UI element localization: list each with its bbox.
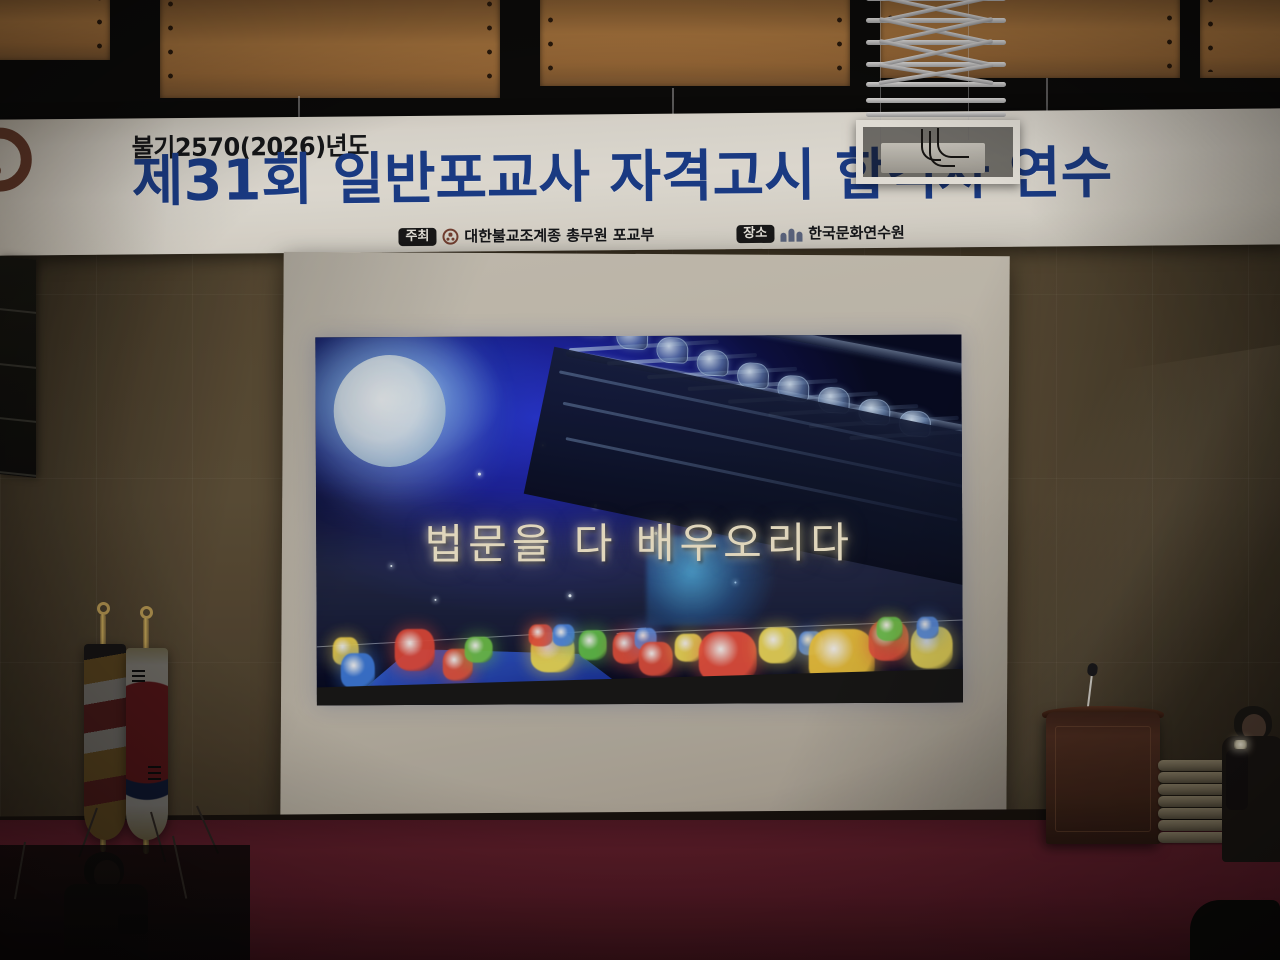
venue-badge: 장소 [736, 225, 774, 243]
lotus-lantern [917, 617, 939, 639]
credits-spacer [664, 234, 726, 235]
venue-name: 한국문화연수원 [808, 225, 905, 241]
lotus-lantern [579, 630, 607, 660]
lotus-lantern [529, 624, 553, 646]
trigram-mark [132, 680, 145, 682]
lotus-lantern [341, 653, 375, 689]
line-array-speaker [0, 256, 36, 478]
lotus-lantern [465, 637, 493, 663]
host-group: 주최 대한불교조계종 총무원 포교부 [398, 226, 654, 246]
venue-group: 장소 한국문화연수원 [736, 224, 905, 243]
lotus-lantern [395, 629, 435, 671]
decorative-roof-tile [696, 349, 729, 377]
south-korea-taegeukgi [126, 648, 168, 840]
wooden-ceiling-panel [0, 0, 110, 60]
trigram-mark [132, 675, 145, 677]
buddhist-flag [84, 644, 126, 840]
star-speck [478, 473, 481, 476]
wooden-ceiling-panel [160, 0, 500, 98]
conference-hall-photo: 불기2570(2026)년도 제31회 일반포교사 자격고시 합격자 연수 주최… [0, 0, 1280, 960]
banner-credits: 주최 대한불교조계종 총무원 포교부 장소 한국문화연수원 [398, 224, 904, 246]
phone-screen [1234, 740, 1247, 749]
trigram-mark [148, 772, 161, 774]
lotus-lantern [759, 627, 797, 663]
projection-screen: 법문을 다 배우오리다 [280, 252, 1010, 832]
projector-cable [937, 128, 969, 158]
jogye-small-emblem-icon [442, 229, 458, 245]
ceiling-hanger-rod [1046, 78, 1048, 114]
decorative-roof-tile [575, 335, 608, 337]
scissor-lift-mount [872, 0, 1000, 126]
arm [1226, 750, 1248, 810]
trigram-mark [132, 670, 145, 672]
foreground-silhouette [1190, 900, 1280, 960]
wooden-ceiling-panel [540, 0, 850, 86]
jogye-order-emblem-icon [0, 127, 32, 192]
dark-foreground-area [0, 845, 250, 960]
building-icon [780, 226, 802, 241]
projected-caption: 법문을 다 배우오리다 [316, 509, 962, 573]
lotus-lantern [639, 642, 673, 676]
trigram-mark [148, 778, 161, 780]
wooden-ceiling-panel [1200, 0, 1280, 78]
projected-slide: 법문을 다 배우오리다 [315, 335, 963, 706]
host-badge: 주최 [398, 228, 436, 246]
decorative-roof-tile [656, 336, 689, 364]
full-moon [333, 355, 445, 467]
wooden-podium [1046, 712, 1160, 844]
ceiling-projector [856, 0, 1020, 190]
trigram-mark [148, 766, 161, 768]
host-name: 대한불교조계종 총무원 포교부 [464, 227, 654, 244]
projector-cage-frame [856, 120, 1020, 184]
event-banner: 불기2570(2026)년도 제31회 일반포교사 자격고시 합격자 연수 주최… [0, 108, 1280, 255]
lotus-lantern [553, 624, 575, 646]
lotus-lantern [877, 617, 903, 641]
